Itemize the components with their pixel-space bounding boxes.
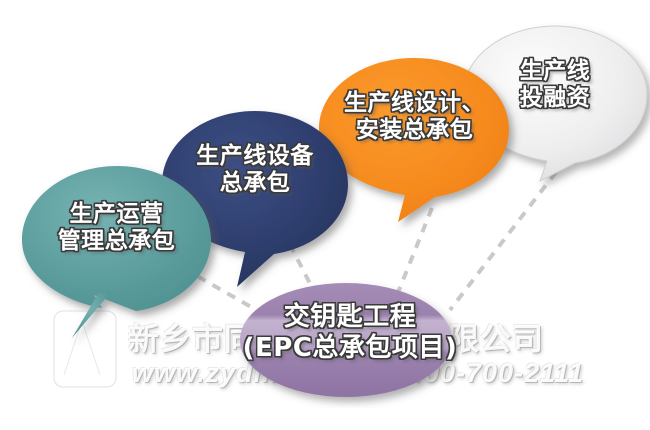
diagram-canvas: 新乡市同飞制冷设备有限公司 www.zydlks.com 400-700-211… [0, 0, 650, 430]
bubble-operations[interactable]: 生产运营 管理总承包 [14, 160, 219, 350]
center-node-turnkey[interactable]: 交钥匙工程 (EPC总承包项目) [236, 280, 464, 408]
